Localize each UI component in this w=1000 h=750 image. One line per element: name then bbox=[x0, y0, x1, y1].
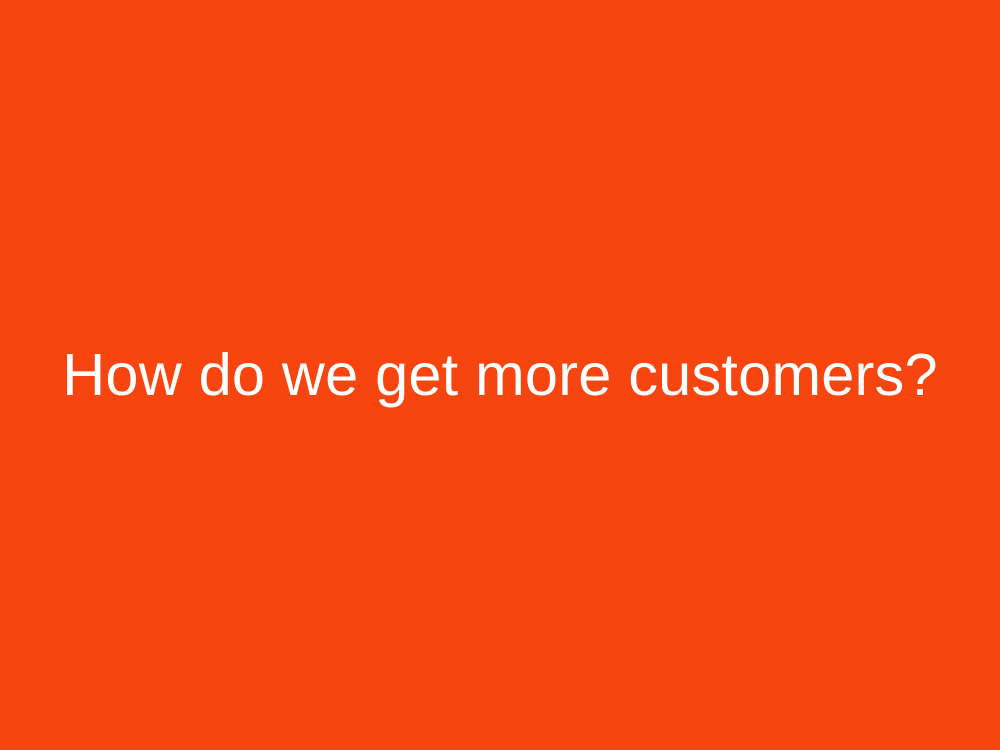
slide-headline: How do we get more customers? bbox=[62, 343, 938, 407]
headline-container: How do we get more customers? bbox=[0, 343, 1000, 407]
slide-canvas: How do we get more customers? bbox=[0, 0, 1000, 750]
